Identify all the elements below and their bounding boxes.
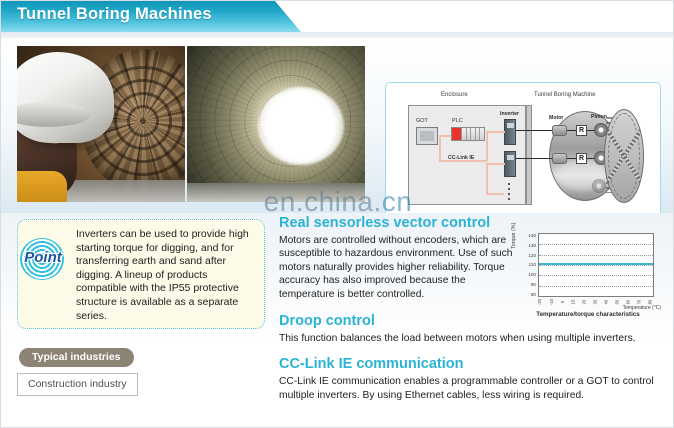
chart-x-tick: -10 <box>550 299 558 305</box>
chart-caption: Temperature/torque characteristics <box>513 311 663 318</box>
inverter-panel <box>507 123 514 128</box>
tunnel-floor <box>187 183 365 202</box>
inverter-label: Inverter <box>500 111 519 117</box>
chart-y-tick: 100 <box>528 272 536 277</box>
point-badge-icon: Point <box>14 238 72 280</box>
reducer-box: R <box>576 125 587 136</box>
chart-gridline <box>539 265 653 266</box>
diagram-machine-label: Tunnel Boring Machine <box>534 92 595 98</box>
inverter-unit <box>504 151 516 177</box>
pinion-gear <box>592 179 606 193</box>
point-badge-label: Point <box>14 249 72 266</box>
chart-plot-area <box>538 233 654 297</box>
chart-y-tick: 120 <box>528 253 536 258</box>
got-device <box>416 127 438 145</box>
wire-segment <box>439 160 487 162</box>
inverter-panel <box>507 155 514 160</box>
page-title: Tunnel Boring Machines <box>17 5 212 24</box>
pinion-label: Pinion <box>591 114 607 120</box>
wire-segment <box>486 131 488 161</box>
chart-gridline <box>539 296 653 297</box>
point-callout-text: Inverters can be used to provide high st… <box>76 228 256 323</box>
cutter-head-diagram <box>604 109 644 203</box>
chart-x-tick: 60 <box>625 300 633 305</box>
feature-body-droop-control: This function balances the load between … <box>279 332 659 345</box>
tunnel-interior-photo <box>187 46 365 202</box>
chart-y-tick: 80 <box>531 292 536 297</box>
chart-x-tick: 30 <box>592 300 600 305</box>
wire-segment <box>486 163 488 195</box>
page-root: Tunnel Boring Machines Enclos <box>0 0 674 428</box>
chart-gridline <box>539 255 653 256</box>
chart-x-tick: 50 <box>614 300 622 305</box>
chart-y-tick: 110 <box>529 262 536 267</box>
wire-segment <box>486 163 505 165</box>
plc-module <box>479 128 484 140</box>
chart-gridline <box>539 275 653 276</box>
chart-x-tick: -20 <box>537 299 545 305</box>
chart-y-tick: 90 <box>531 282 536 287</box>
chart-y-tick: 140 <box>528 233 536 238</box>
chart-x-tick: 40 <box>603 300 611 305</box>
feature-body-real-sensorless-vector-control: Motors are controlled without encoders, … <box>279 234 517 301</box>
drive-shaft <box>516 158 552 159</box>
got-screen <box>420 131 434 141</box>
plc-power-module <box>452 128 461 140</box>
motor-unit <box>552 153 567 164</box>
chart-gridline <box>539 244 653 245</box>
reducer-box: R <box>576 153 587 164</box>
worker-vest <box>17 171 67 202</box>
wire-segment <box>439 135 451 137</box>
worker-and-cutter-head-photo <box>17 46 185 202</box>
drive-shaft <box>516 130 552 131</box>
feature-title-cc-link-ie-communication: CC-Link IE communication <box>279 356 665 373</box>
wire-segment <box>439 135 441 161</box>
body-area: Point Inverters can be used to provide h… <box>1 213 674 428</box>
chart-y-axis-label: Torque (%) <box>511 223 517 249</box>
chart-x-tick: 10 <box>570 300 578 305</box>
plc-label: PLC <box>452 118 463 124</box>
temperature-torque-chart: Torque (%) 1401301201101009080 -20-10010… <box>513 229 663 317</box>
chart-x-tick: 20 <box>581 300 589 305</box>
chart-x-tick: 80 <box>648 300 656 305</box>
inverter-unit <box>504 119 516 145</box>
chart-x-tick: 0 <box>560 301 568 303</box>
page-header: Tunnel Boring Machines <box>1 1 674 32</box>
feature-body-cc-link-ie-communication: CC-Link IE communication enables a progr… <box>279 375 659 402</box>
chart-y-tick: 130 <box>528 243 536 248</box>
got-label: GOT <box>416 118 428 124</box>
media-band: Enclosure Tunnel Boring Machine Cutter s… <box>1 38 674 213</box>
point-callout-box: Point Inverters can be used to provide h… <box>17 219 265 329</box>
inverter-continuation-dots <box>508 183 510 201</box>
motor-label: Motor <box>549 115 563 121</box>
diagram-enclosure-label: Enclosure <box>441 92 468 98</box>
chart-gridline <box>539 286 653 287</box>
wire-segment <box>486 131 505 133</box>
tunnel-exit-light <box>258 87 343 165</box>
industry-tag-construction[interactable]: Construction industry <box>17 373 138 396</box>
plc-device <box>451 127 485 141</box>
plc-modules <box>461 128 484 140</box>
motor-unit <box>552 125 567 136</box>
chart-y-axis-ticks: 1401301201101009080 <box>521 233 536 297</box>
system-diagram-panel: Enclosure Tunnel Boring Machine Cutter s… <box>385 82 661 234</box>
typical-industries-heading: Typical industries <box>19 348 134 367</box>
chart-x-tick: 70 <box>636 300 644 305</box>
wire-segment <box>486 193 504 195</box>
enclosure-door <box>526 105 532 205</box>
